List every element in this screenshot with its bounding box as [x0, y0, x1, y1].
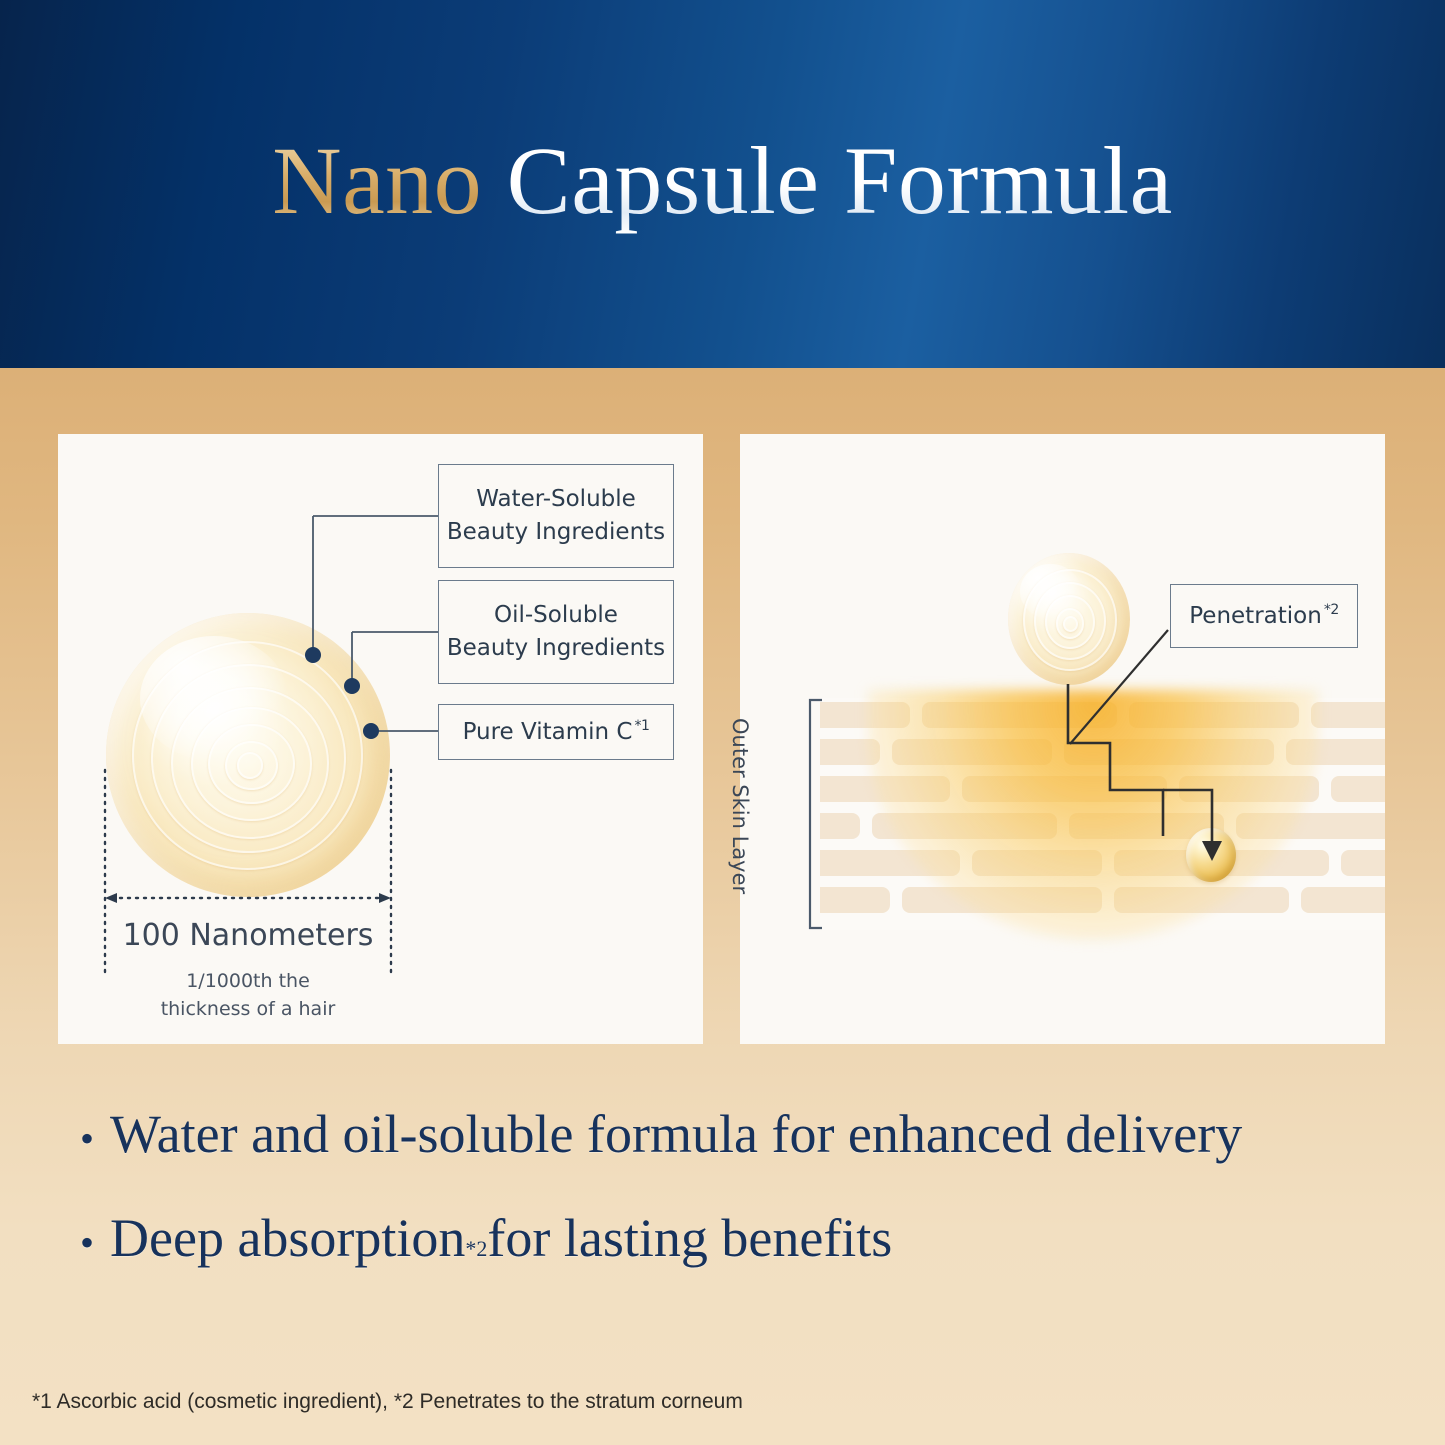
benefit-item-2-text-post: for lasting benefits	[487, 1208, 892, 1268]
dimension-value: 100 Nanometers	[106, 918, 390, 953]
label-oil-soluble-line2: Beauty Ingredients	[447, 635, 665, 661]
outer-skin-layer-bricks	[820, 698, 1385, 930]
skin-brick	[1236, 813, 1385, 839]
outer-skin-layer-label: Outer Skin Layer	[728, 718, 752, 908]
skin-brick	[1286, 739, 1385, 765]
skin-brick	[902, 887, 1102, 913]
title-word-nano: Nano	[272, 127, 482, 234]
skin-brick	[972, 850, 1102, 876]
skin-brick	[892, 739, 1052, 765]
skin-brick	[922, 702, 1117, 728]
skin-brick	[1064, 739, 1274, 765]
skin-brick	[872, 813, 1057, 839]
label-oil-soluble[interactable]: Oil-Soluble Beauty Ingredients	[438, 580, 674, 684]
label-pure-vitamin-c[interactable]: Pure Vitamin C*1	[438, 704, 674, 760]
dimension-caption-line1: 1/1000th the	[186, 970, 310, 992]
dimension-caption: 1/1000th the thickness of a hair	[86, 968, 410, 1023]
skin-brick	[1179, 776, 1319, 802]
benefit-item-2: • Deep absorption*2 for lasting benefits	[80, 1208, 1400, 1268]
benefit-item-1-text: Water and oil-soluble formula for enhanc…	[110, 1104, 1242, 1164]
label-water-soluble-line1: Water-Soluble	[476, 486, 636, 512]
skin-brick	[820, 702, 910, 728]
label-water-soluble[interactable]: Water-Soluble Beauty Ingredients	[438, 464, 674, 568]
penetrating-capsule-droplet	[1008, 553, 1130, 685]
dimension-caption-line2: thickness of a hair	[161, 998, 336, 1020]
skin-brick	[820, 739, 880, 765]
skin-brick	[1311, 702, 1385, 728]
benefit-item-1: • Water and oil-soluble formula for enha…	[80, 1104, 1400, 1164]
skin-brick	[962, 776, 1167, 802]
benefit-item-2-footnote-marker: *2	[465, 1237, 487, 1262]
benefits-list: • Water and oil-soluble formula for enha…	[80, 1104, 1400, 1313]
label-oil-soluble-line1: Oil-Soluble	[494, 602, 618, 628]
skin-brick	[1129, 702, 1299, 728]
header-banner: Nano Capsule Formula	[0, 0, 1445, 368]
skin-brick	[1301, 887, 1385, 913]
footnote: *1 Ascorbic acid (cosmetic ingredient), …	[32, 1390, 743, 1414]
benefit-item-2-text-pre: Deep absorption	[110, 1208, 465, 1268]
label-penetration-text: Penetration	[1189, 603, 1322, 629]
bullet-marker-icon: •	[80, 1119, 94, 1159]
absorbed-gold-capsule	[1186, 828, 1236, 882]
label-pure-vitamin-c-text: Pure Vitamin C	[463, 719, 633, 745]
label-water-soluble-line2: Beauty Ingredients	[447, 519, 665, 545]
skin-brick	[820, 850, 960, 876]
page-title: Nano Capsule Formula	[0, 131, 1445, 232]
droplet-ring-7	[237, 752, 264, 779]
label-penetration[interactable]: Penetration*2	[1170, 584, 1358, 648]
nano-capsule-droplet	[106, 613, 390, 897]
small-droplet-ring-5	[1063, 616, 1078, 632]
label-penetration-footnote-marker: *2	[1324, 602, 1339, 618]
label-pure-vitamin-c-footnote-marker: *1	[635, 718, 650, 734]
bullet-marker-icon: •	[80, 1223, 94, 1263]
skin-brick	[1341, 850, 1385, 876]
skin-brick	[820, 813, 860, 839]
skin-brick	[820, 887, 890, 913]
skin-brick	[820, 776, 950, 802]
skin-brick	[1114, 887, 1289, 913]
title-word-capsule-formula: Capsule Formula	[482, 127, 1173, 234]
skin-brick	[1331, 776, 1385, 802]
infographic-page: Nano Capsule Formula	[0, 0, 1445, 1445]
